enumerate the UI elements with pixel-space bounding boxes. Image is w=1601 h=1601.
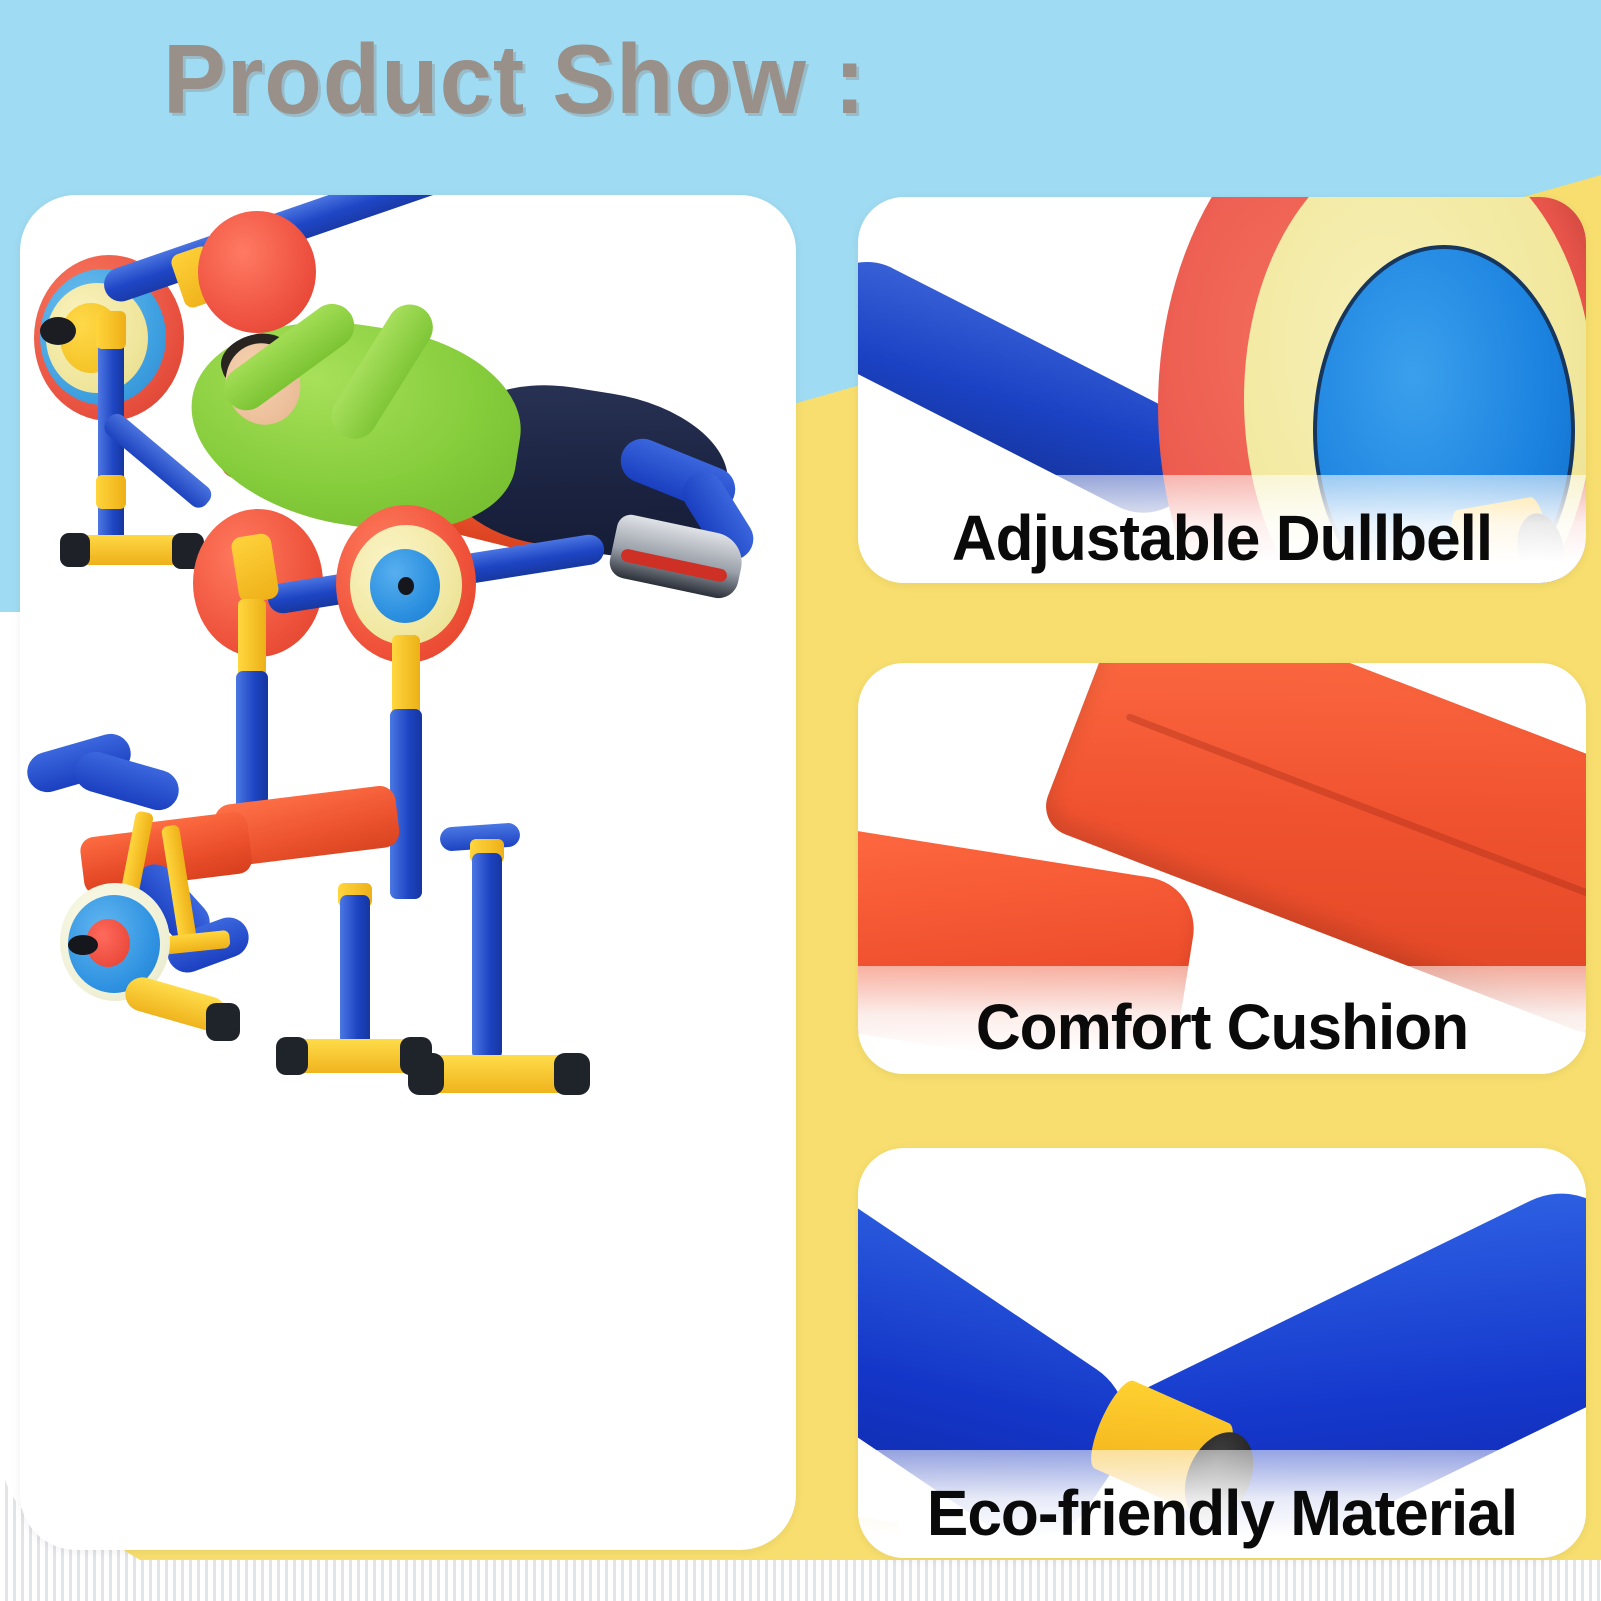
bench-product-photo	[20, 495, 796, 1550]
leg-weight-plate-hub	[68, 935, 98, 955]
feature-card-eco-friendly-material[interactable]: Eco-friendly Material	[858, 1148, 1586, 1558]
feature-label-adjustable-dullbell: Adjustable Dullbell	[869, 501, 1575, 575]
barbell-plate-right-hub	[398, 577, 414, 595]
main-product-card[interactable]	[20, 195, 796, 1550]
feature-label-comfort-cushion: Comfort Cushion	[869, 990, 1575, 1064]
bench-leg-right	[472, 853, 502, 1059]
feature-card-comfort-cushion[interactable]: Comfort Cushion	[858, 663, 1586, 1074]
base-cap-left-1	[276, 1037, 308, 1075]
base-cap-front	[206, 1003, 240, 1041]
base-cap-right-1	[408, 1053, 444, 1095]
feature-label-eco-friendly-material: Eco-friendly Material	[869, 1476, 1575, 1550]
base-cap-right-2	[554, 1053, 590, 1095]
rack-post-left-yellow	[238, 599, 266, 677]
rack-post-right-yellow	[392, 635, 420, 717]
feature-card-adjustable-dullbell[interactable]: Adjustable Dullbell	[858, 197, 1586, 583]
post-collar-upper-yellow	[96, 311, 126, 349]
bench-leg-left	[340, 895, 370, 1047]
page-title: Product Show :	[163, 30, 866, 128]
right-weight-plate	[198, 211, 316, 333]
